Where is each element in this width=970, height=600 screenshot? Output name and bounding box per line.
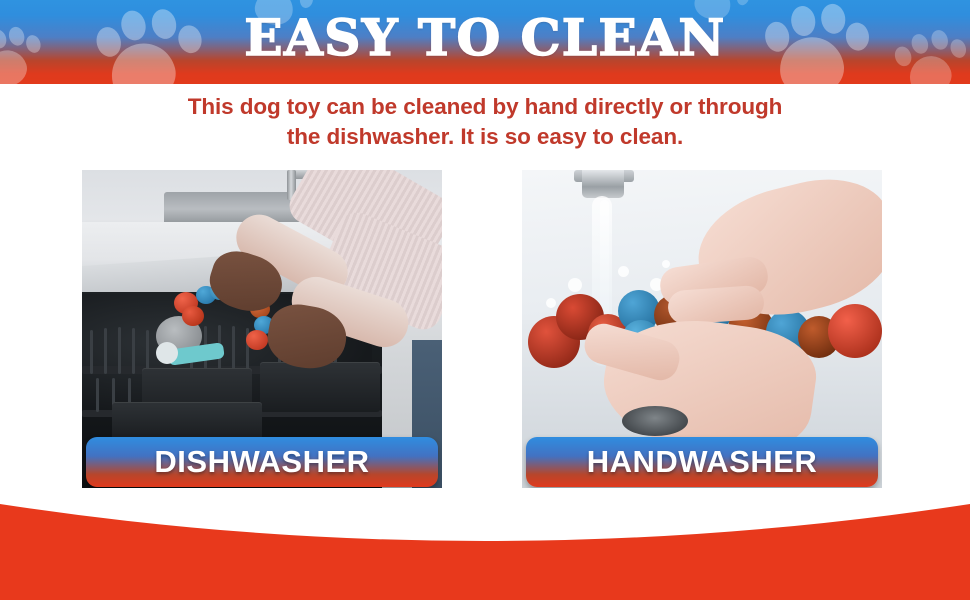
upper-hand-finger bbox=[667, 285, 765, 326]
label-banner-dishwasher: DISHWASHER bbox=[86, 437, 438, 487]
toy-end-ball bbox=[828, 304, 882, 358]
faucet-spout bbox=[582, 170, 624, 198]
utensil-tray bbox=[112, 402, 262, 440]
subtitle-line-2: the dishwasher. It is so easy to clean. bbox=[110, 122, 860, 152]
sink-drain bbox=[622, 406, 688, 436]
panel-handwasher: HANDWASHER bbox=[522, 170, 882, 488]
paw-toe bbox=[735, 0, 751, 7]
cutlery-basket bbox=[260, 362, 380, 412]
cleaning-brush-head bbox=[156, 342, 178, 364]
label-banner-handwasher: HANDWASHER bbox=[526, 437, 878, 487]
page-title: EASY TO CLEAN bbox=[0, 7, 970, 69]
easy-to-clean-poster: EASY TO CLEAN This dog toy can be cleane… bbox=[0, 0, 970, 600]
label-dishwasher: DISHWASHER bbox=[154, 437, 369, 487]
label-handwasher: HANDWASHER bbox=[587, 437, 818, 487]
panel-dishwasher: DISHWASHER bbox=[82, 170, 442, 488]
subtitle-text: This dog toy can be cleaned by hand dire… bbox=[110, 92, 860, 152]
header-banner: EASY TO CLEAN bbox=[0, 0, 970, 84]
footer-wave bbox=[0, 490, 970, 600]
subtitle-line-1: This dog toy can be cleaned by hand dire… bbox=[110, 92, 860, 122]
footer-wave-shape bbox=[0, 490, 970, 600]
